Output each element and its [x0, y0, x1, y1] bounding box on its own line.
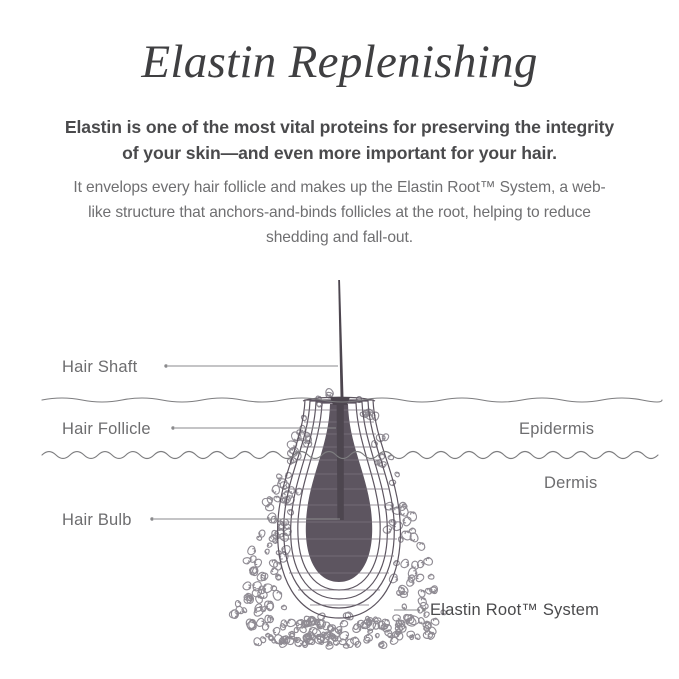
- label-hair-shaft: Hair Shaft: [62, 358, 338, 376]
- page-title: Elastin Replenishing: [0, 33, 679, 91]
- subtitle-text: Elastin is one of the most vital protein…: [60, 114, 619, 166]
- label-epidermis-text: Epidermis: [519, 420, 594, 438]
- body-paragraph: It envelops every hair follicle and make…: [70, 175, 609, 250]
- label-hair-follicle: Hair Follicle: [62, 420, 336, 438]
- hair-follicle-diagram: Hair Shaft Hair Follicle Hair Bulb Epide…: [0, 258, 679, 679]
- label-hair-bulb-text: Hair Bulb: [62, 511, 132, 529]
- label-hair-shaft-text: Hair Shaft: [62, 358, 138, 376]
- label-hair-follicle-text: Hair Follicle: [62, 420, 151, 438]
- label-dermis-text: Dermis: [544, 474, 597, 492]
- label-elastin-root-system-text: Elastin Root™ System: [430, 601, 599, 619]
- infographic-root: Elastin Replenishing Elastin is one of t…: [0, 0, 679, 679]
